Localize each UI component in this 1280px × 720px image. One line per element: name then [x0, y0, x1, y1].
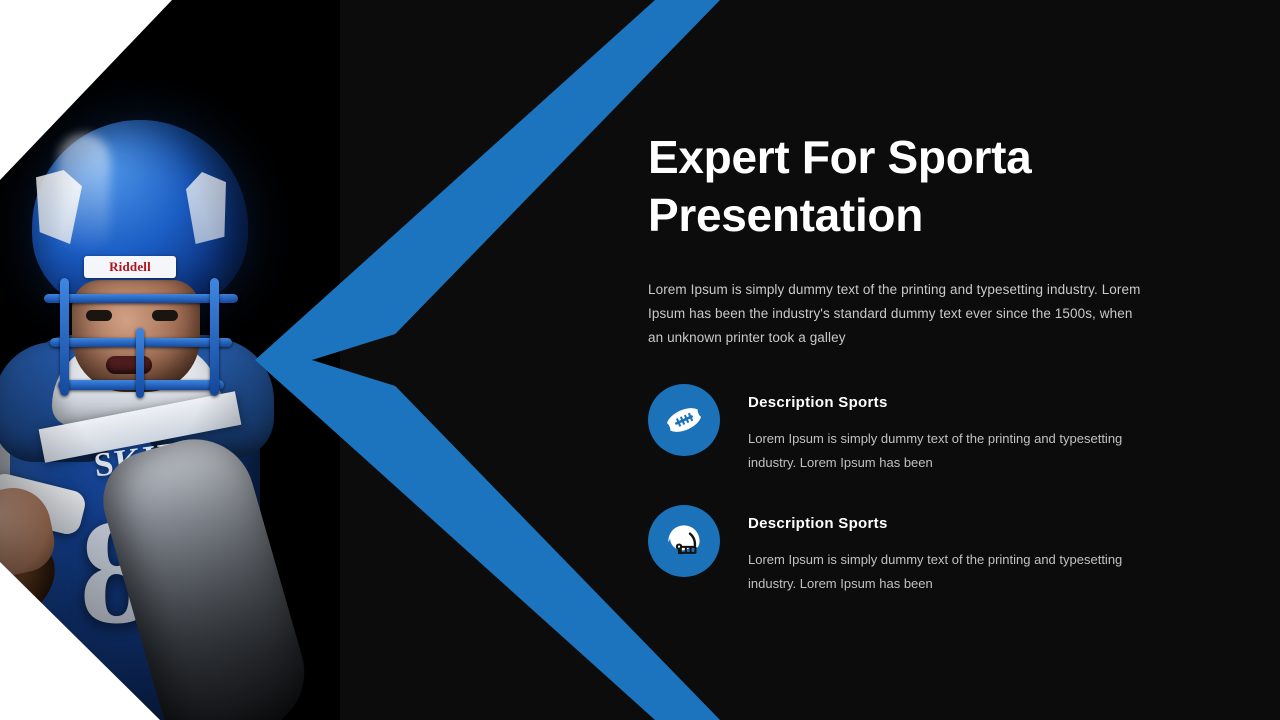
presentation-slide: SKIES 8 Riddell [0, 0, 1280, 720]
helmet-facemask [38, 268, 244, 406]
feature-text: Lorem Ipsum is simply dummy text of the … [748, 548, 1128, 596]
feature-text: Lorem Ipsum is simply dummy text of the … [748, 427, 1128, 475]
helmet-gloss [58, 134, 110, 254]
feature-title: Description Sports [748, 394, 1128, 411]
intro-paragraph: Lorem Ipsum is simply dummy text of the … [648, 278, 1148, 350]
feature-body: Description Sports Lorem Ipsum is simply… [748, 384, 1128, 475]
slide-content: Expert For Sporta Presentation Lorem Ips… [648, 0, 1208, 720]
american-football-icon [648, 384, 720, 456]
feature-title: Description Sports [748, 515, 1128, 532]
feature-body: Description Sports Lorem Ipsum is simply… [748, 505, 1128, 596]
player-photo: SKIES 8 Riddell [0, 0, 340, 720]
list-item[interactable]: Description Sports Lorem Ipsum is simply… [648, 505, 1148, 596]
page-title: Expert For Sporta Presentation [648, 128, 1118, 244]
feature-list: Description Sports Lorem Ipsum is simply… [648, 384, 1148, 626]
football-helmet-icon [648, 505, 720, 577]
list-item[interactable]: Description Sports Lorem Ipsum is simply… [648, 384, 1148, 475]
